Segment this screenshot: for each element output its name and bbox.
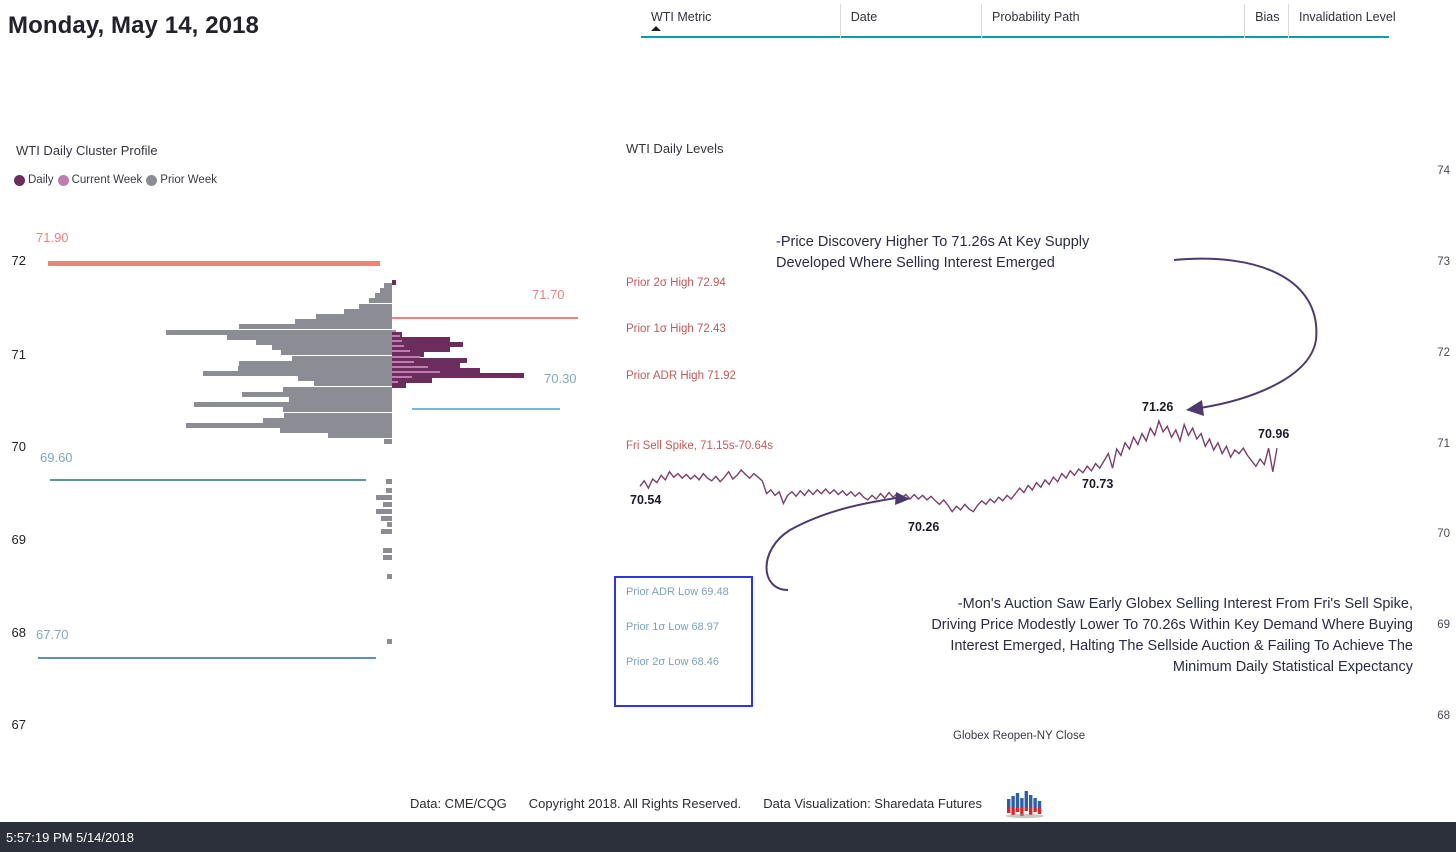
- footer: Data: CME/CQG Copyright 2018. All Rights…: [0, 782, 1456, 824]
- price-series-path: [610, 150, 1456, 750]
- slicer-invalidation-level[interactable]: Invalidation Level: [1289, 4, 1389, 38]
- legend-swatch-prior-week: [146, 175, 157, 186]
- cluster-bar-prior-week: [376, 509, 392, 514]
- cluster-profile-chart[interactable]: 71.9071.7070.3069.6067.70727170696867: [0, 210, 600, 740]
- cluster-reference-line-69-60: [50, 479, 366, 481]
- cluster-axis-tick: 71: [0, 347, 26, 362]
- cluster-reference-line-71-70: [392, 317, 578, 319]
- price-point-label: 70.54: [630, 493, 661, 507]
- cluster-profile-title: WTI Daily Cluster Profile: [16, 143, 158, 158]
- price-line-chart[interactable]: 7473727170696870.5470.2670.7371.2670.96: [610, 150, 1456, 750]
- legend-swatch-daily: [14, 175, 25, 186]
- slicer-wti-metric-label: WTI Metric: [641, 10, 711, 24]
- cluster-bar-daily: [392, 280, 396, 285]
- footer-data-source: Data: CME/CQG: [410, 796, 507, 811]
- cluster-bar-prior-week: [383, 555, 392, 560]
- cluster-price-tag: 67.70: [36, 627, 69, 642]
- cluster-bar-prior-week: [386, 479, 392, 484]
- cluster-bar-prior-week: [381, 529, 392, 534]
- cluster-bar-prior-week: [328, 433, 392, 438]
- cluster-axis-tick: 72: [0, 253, 26, 268]
- cluster-bar-prior-week: [387, 639, 392, 644]
- slicer-date-label: Date: [841, 10, 877, 24]
- footer-copyright: Copyright 2018. All Rights Reserved.: [529, 796, 741, 811]
- taskbar: 5:57:19 PM 5/14/2018: [0, 822, 1456, 852]
- legend-swatch-current-week: [58, 175, 69, 186]
- price-point-label: 71.26: [1142, 400, 1173, 414]
- cluster-bar-prior-week: [383, 548, 392, 553]
- cluster-axis-tick: 67: [0, 717, 26, 732]
- legend-item-prior-week[interactable]: Prior Week: [146, 174, 217, 186]
- legend-item-daily[interactable]: Daily: [14, 174, 54, 186]
- cluster-bar-prior-week: [387, 574, 392, 579]
- slicer-bar: WTI Metric Date Probability Path Bias In…: [641, 4, 1389, 38]
- slicer-bias-label: Bias: [1245, 10, 1279, 24]
- cluster-axis-tick: 68: [0, 625, 26, 640]
- cluster-axis-tick: 69: [0, 532, 26, 547]
- slicer-wti-metric[interactable]: WTI Metric: [641, 4, 841, 38]
- cluster-axis-tick: 70: [0, 439, 26, 454]
- cluster-bar-daily: [392, 383, 406, 388]
- page-title: Monday, May 14, 2018: [8, 12, 259, 40]
- cluster-bar-prior-week: [376, 495, 392, 500]
- price-point-label: 70.96: [1258, 427, 1289, 441]
- legend-label-daily: Daily: [28, 174, 54, 186]
- cluster-bar-prior-week: [381, 516, 392, 521]
- cluster-bar-prior-week: [387, 522, 392, 527]
- cluster-reference-line-70-30: [412, 408, 560, 410]
- cluster-price-tag: 71.70: [532, 287, 565, 302]
- cluster-profile-legend: Daily Current Week Prior Week: [14, 174, 217, 186]
- taskbar-clock[interactable]: 5:57:19 PM 5/14/2018: [6, 830, 134, 845]
- cluster-reference-line-67-70: [38, 657, 376, 659]
- cluster-price-tag: 71.90: [36, 230, 69, 245]
- legend-label-current-week: Current Week: [72, 174, 143, 186]
- chart-x-axis-caption: Globex Reopen-NY Close: [953, 730, 1085, 742]
- slicer-date[interactable]: Date: [841, 4, 982, 38]
- price-point-label: 70.73: [1082, 477, 1113, 491]
- cluster-price-tag: 70.30: [544, 371, 577, 386]
- slicer-invalidation-level-label: Invalidation Level: [1289, 10, 1396, 24]
- cluster-bar-prior-week: [383, 502, 392, 507]
- sharedata-futures-logo: [1004, 787, 1046, 819]
- slicer-probability-path[interactable]: Probability Path: [982, 4, 1245, 38]
- price-point-label: 70.26: [908, 520, 939, 534]
- sort-ascending-icon: [651, 26, 661, 31]
- cluster-bar-prior-week: [386, 488, 392, 493]
- legend-item-current-week[interactable]: Current Week: [58, 174, 143, 186]
- cluster-reference-line-71-90: [48, 261, 380, 266]
- footer-visualization: Data Visualization: Sharedata Futures: [763, 796, 982, 811]
- cluster-bar-prior-week: [384, 439, 392, 444]
- legend-label-prior-week: Prior Week: [160, 174, 217, 186]
- slicer-bias[interactable]: Bias: [1245, 4, 1289, 38]
- cluster-price-tag: 69.60: [40, 450, 73, 465]
- slicer-probability-path-label: Probability Path: [982, 10, 1080, 24]
